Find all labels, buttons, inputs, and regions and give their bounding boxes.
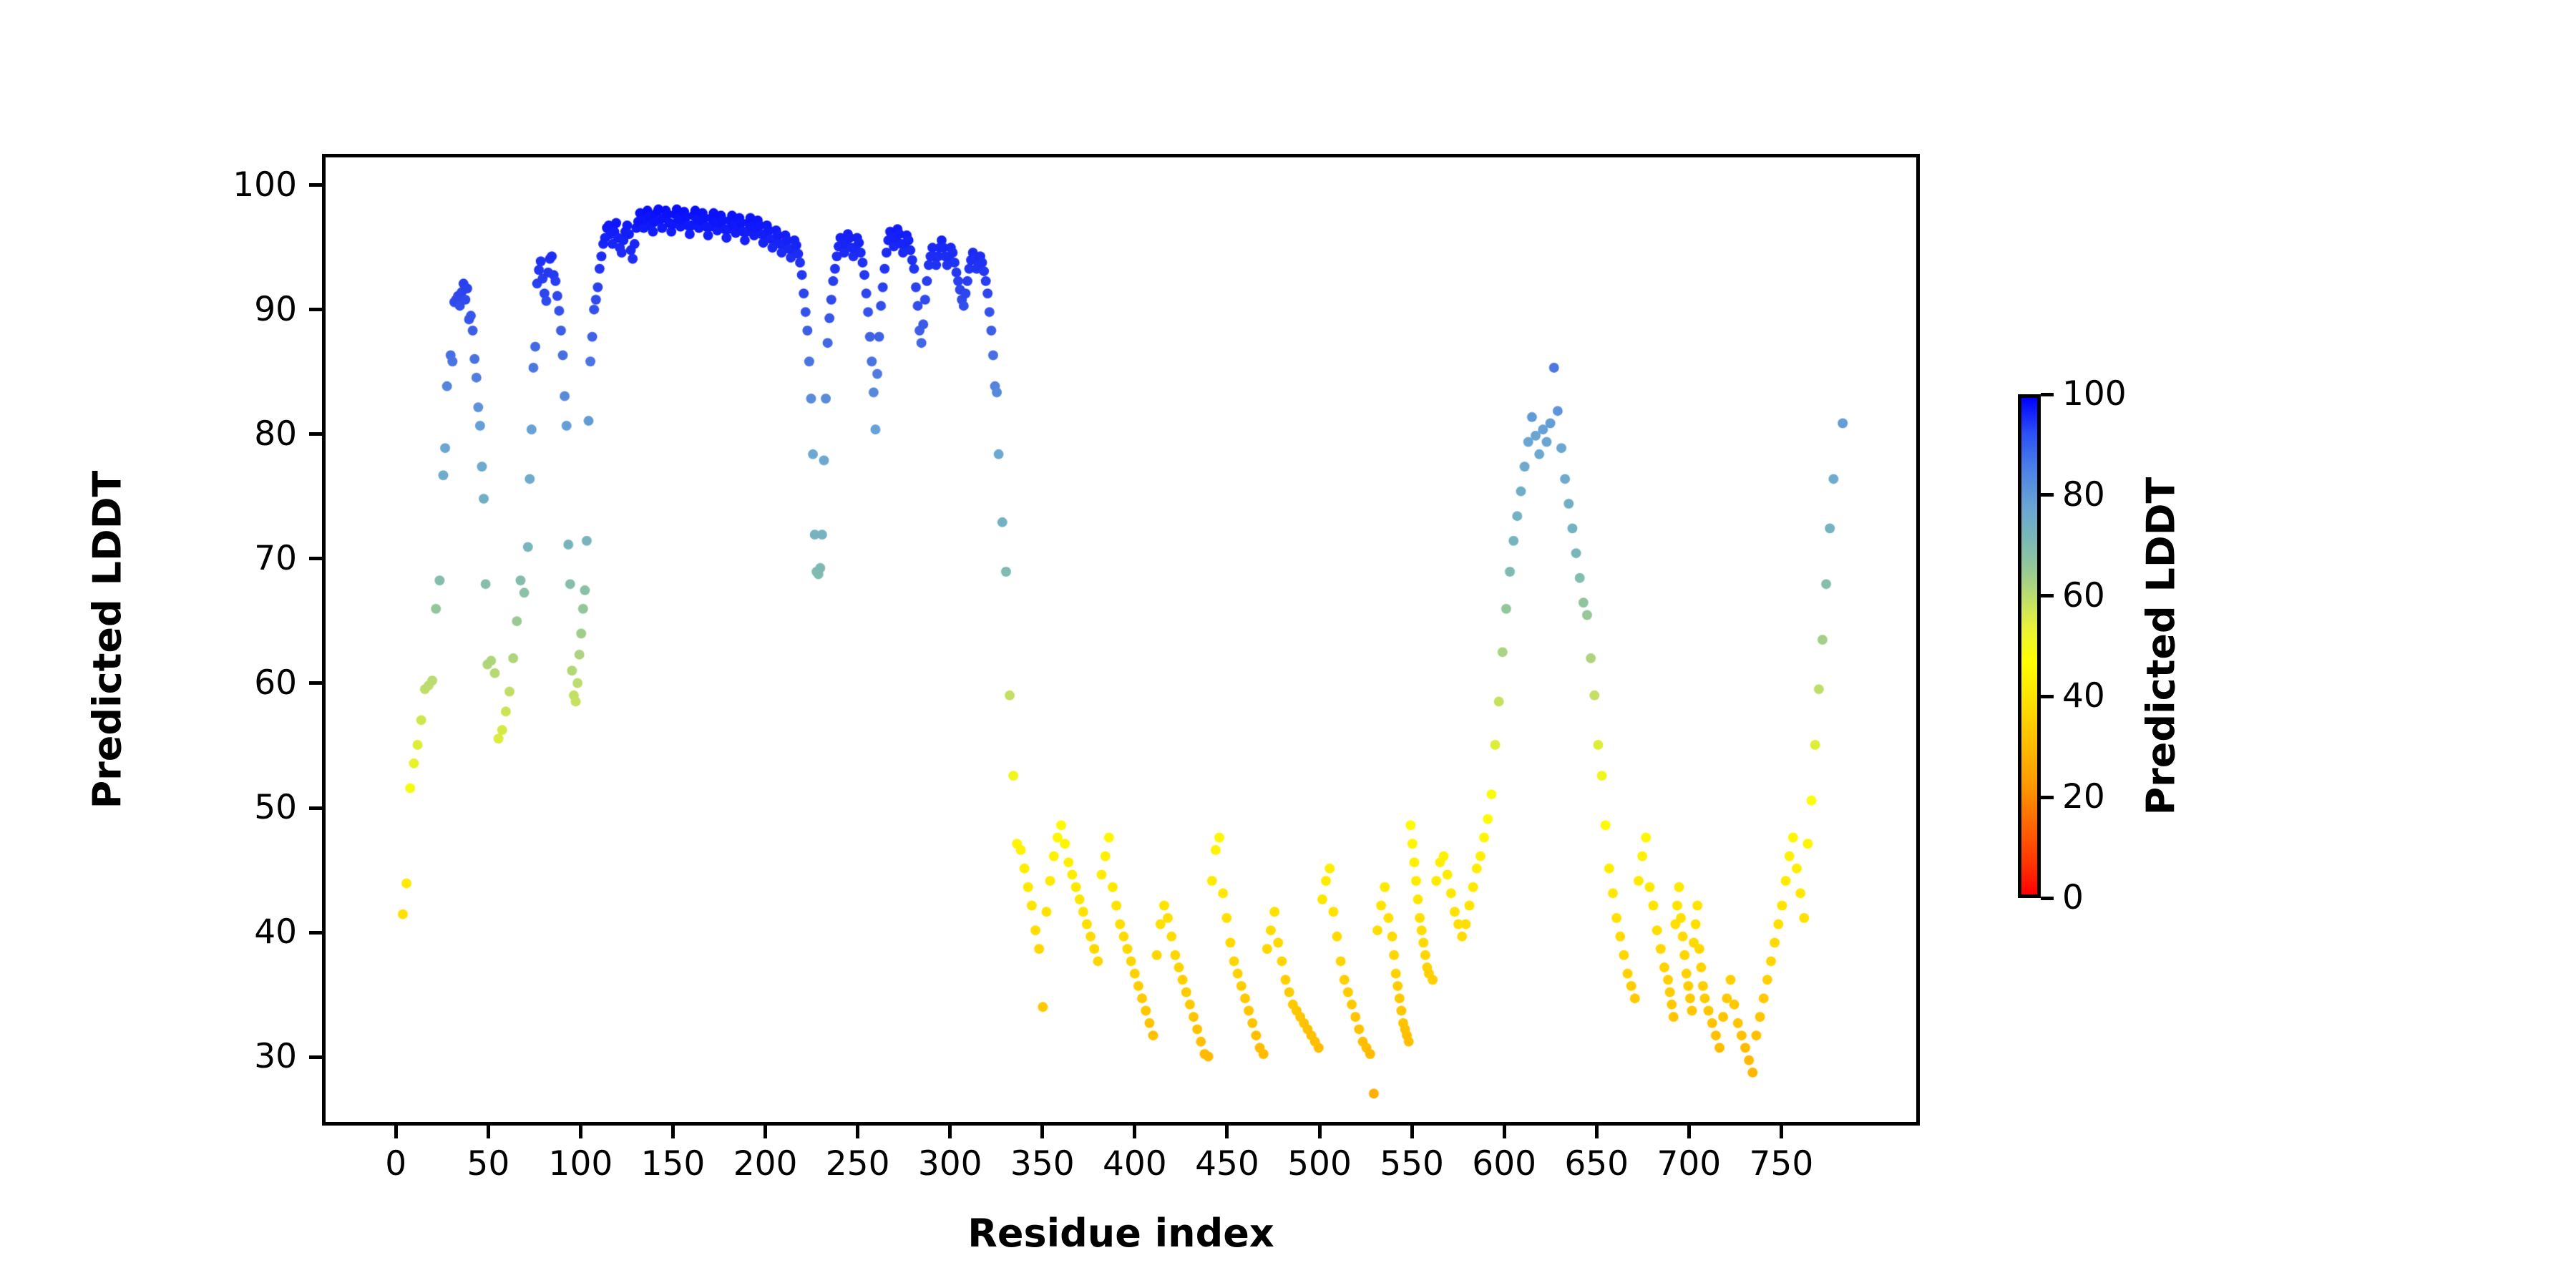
x-tick-mark [1410,1126,1414,1138]
x-tick-mark [487,1126,490,1138]
x-tick-label: 750 [1709,1147,1853,1181]
x-tick-mark [1687,1126,1691,1138]
y-tick-mark [309,931,322,935]
y-tick-label: 60 [168,666,297,700]
colorbar-tick-mark [2041,493,2054,497]
y-tick-label: 40 [168,915,297,949]
x-tick-mark [948,1126,952,1138]
colorbar-tick-label: 60 [2062,579,2105,613]
plot-area [322,154,1920,1126]
y-tick-mark [309,183,322,187]
y-tick-label: 30 [168,1040,297,1073]
x-tick-mark [1225,1126,1229,1138]
x-tick-mark [763,1126,767,1138]
colorbar-tick-label: 40 [2062,679,2105,713]
colorbar-tick-mark [2041,695,2054,698]
x-tick-mark [1133,1126,1136,1138]
y-tick-label: 50 [168,791,297,824]
y-tick-label: 80 [168,417,297,451]
y-tick-mark [309,681,322,685]
colorbar-gradient [2018,394,2041,898]
y-tick-mark [309,806,322,810]
x-tick-mark [1040,1126,1044,1138]
colorbar-tick-label: 20 [2062,780,2105,814]
x-axis-label: Residue index [322,1211,1920,1256]
y-tick-mark [309,308,322,311]
x-tick-mark [856,1126,859,1138]
colorbar-tick-label: 100 [2062,377,2127,411]
colorbar-tick-mark [2041,897,2054,900]
x-tick-mark [579,1126,582,1138]
colorbar-tick-mark [2041,393,2054,396]
x-tick-mark [671,1126,675,1138]
y-tick-label: 100 [168,168,297,202]
x-tick-mark [1503,1126,1506,1138]
colorbar-tick-mark [2041,594,2054,597]
colorbar-tick-label: 0 [2062,881,2084,914]
y-tick-mark [309,1055,322,1059]
x-tick-mark [394,1126,398,1138]
x-tick-mark [1780,1126,1783,1138]
scatter-plot-points [326,157,1916,1122]
colorbar-tick-label: 80 [2062,478,2105,512]
x-tick-mark [1318,1126,1322,1138]
y-tick-label: 70 [168,542,297,575]
y-tick-label: 90 [168,293,297,326]
x-tick-mark [1595,1126,1599,1138]
figure-canvas: 30405060708090100 0501001502002503003504… [0,0,2576,1288]
y-tick-mark [309,557,322,560]
y-tick-mark [309,432,322,436]
y-axis-label: Predicted LDDT [85,471,130,809]
colorbar-tick-mark [2041,796,2054,799]
colorbar-label: Predicted LDDT [2139,477,2184,816]
